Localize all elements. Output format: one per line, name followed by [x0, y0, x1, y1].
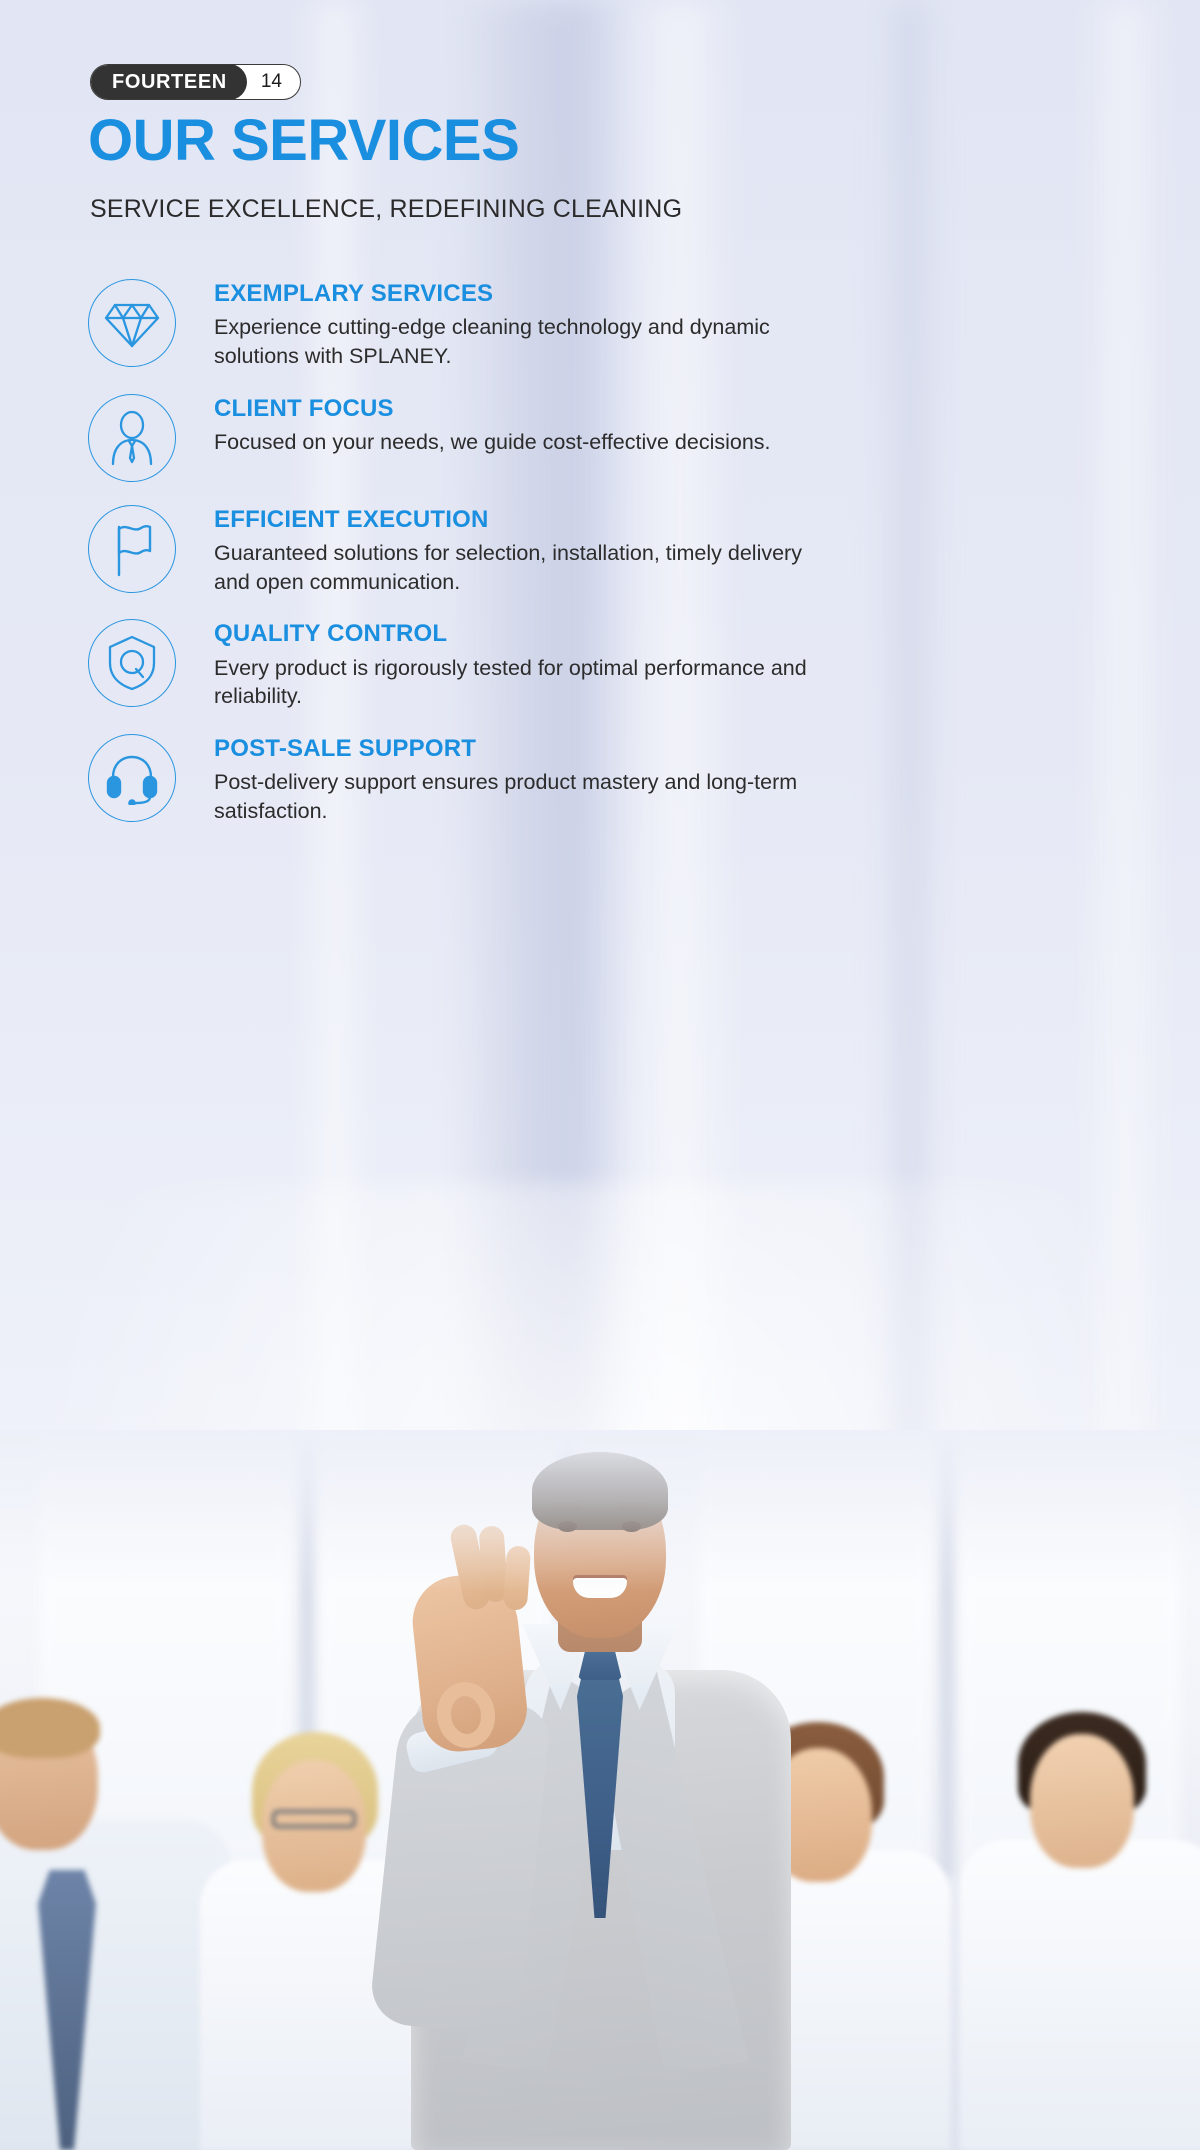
service-item[interactable]: QUALITY CONTROL Every product is rigorou… — [88, 615, 848, 711]
badge-number-label: 14 — [247, 65, 300, 99]
service-description: Every product is rigorously tested for o… — [214, 654, 814, 711]
background-person — [960, 1610, 1200, 2150]
badge-word-label: FOURTEEN — [90, 64, 247, 100]
page-title: OUR SERVICES — [88, 112, 519, 170]
service-description: Experience cutting-edge cleaning technol… — [214, 313, 814, 370]
page-subtitle: SERVICE EXCELLENCE, REDEFINING CLEANING — [90, 195, 682, 224]
slide-root: FOURTEEN 14 OUR SERVICES SERVICE EXCELLE… — [0, 0, 1200, 2150]
service-text: POST-SALE SUPPORT Post-delivery support … — [214, 730, 814, 826]
shield-q-icon — [88, 619, 176, 707]
service-text: QUALITY CONTROL Every product is rigorou… — [214, 615, 814, 711]
business-team-photo — [0, 1430, 1200, 2150]
service-item[interactable]: CLIENT FOCUS Focused on your needs, we g… — [88, 390, 848, 482]
service-description: Post-delivery support ensures product ma… — [214, 768, 814, 825]
service-item[interactable]: EXEMPLARY SERVICES Experience cutting-ed… — [88, 275, 848, 371]
service-text: EFFICIENT EXECUTION Guaranteed solutions… — [214, 501, 814, 597]
service-title: POST-SALE SUPPORT — [214, 736, 814, 762]
background-person — [0, 1590, 230, 2150]
service-item[interactable]: EFFICIENT EXECUTION Guaranteed solutions… — [88, 501, 848, 597]
photo-top-fade — [0, 1430, 1200, 1590]
service-item[interactable]: POST-SALE SUPPORT Post-delivery support … — [88, 730, 848, 826]
person-tie-icon — [88, 394, 176, 482]
headset-icon — [88, 734, 176, 822]
diamond-icon — [88, 279, 176, 367]
service-title: EFFICIENT EXECUTION — [214, 507, 814, 533]
service-title: EXEMPLARY SERVICES — [214, 281, 814, 307]
flag-icon — [88, 505, 176, 593]
service-title: QUALITY CONTROL — [214, 621, 814, 647]
service-title: CLIENT FOCUS — [214, 396, 771, 422]
service-text: EXEMPLARY SERVICES Experience cutting-ed… — [214, 275, 814, 371]
service-description: Focused on your needs, we guide cost-eff… — [214, 428, 771, 457]
services-list: EXEMPLARY SERVICES Experience cutting-ed… — [88, 275, 848, 844]
section-number-badge: FOURTEEN 14 — [90, 64, 301, 100]
service-description: Guaranteed solutions for selection, inst… — [214, 539, 814, 596]
service-text: CLIENT FOCUS Focused on your needs, we g… — [214, 390, 771, 457]
